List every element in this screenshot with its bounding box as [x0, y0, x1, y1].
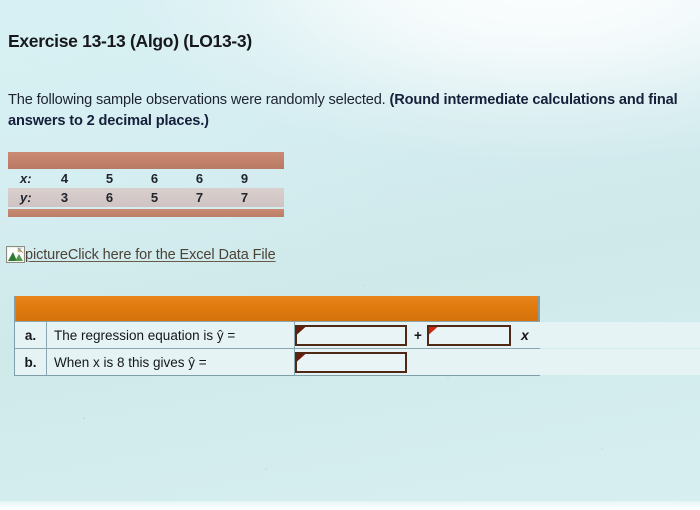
answer-table-header-bar [15, 296, 539, 321]
data-table-row-y: y: 3 6 5 7 7 [8, 188, 284, 207]
data-cell-x-1: 4 [42, 171, 87, 186]
data-cell-x-5: 9 [222, 171, 267, 186]
slope-input-box[interactable] [427, 325, 511, 346]
table-row: b. When x is 8 this gives ŷ = [15, 348, 539, 375]
excel-data-file-row[interactable]: pictureClick here for the Excel Data Fil… [6, 246, 276, 263]
data-row-label-x: x: [8, 171, 42, 186]
answer-operator-plus: + [409, 322, 427, 348]
data-table-bottom-rule [8, 209, 284, 217]
intercept-input-box[interactable] [295, 325, 407, 346]
excel-link-text: Click here for the Excel Data File [68, 247, 276, 263]
predicted-y-input[interactable] [297, 354, 405, 371]
data-row-label-y: y: [8, 190, 42, 205]
answer-input-cell-a2 [427, 322, 513, 348]
prompt-paragraph: The following sample observations were r… [8, 90, 680, 132]
data-cell-y-1: 3 [42, 190, 87, 205]
broken-image-icon [6, 246, 25, 263]
data-cell-y-5: 7 [222, 190, 267, 205]
answer-input-cell-a1 [295, 322, 409, 348]
data-cell-x-2: 5 [87, 171, 132, 186]
data-table-top-rule [8, 152, 284, 169]
sample-data-table: x: 4 5 6 6 9 y: 3 6 5 7 7 [8, 152, 284, 217]
answer-row-b-blank-cell [427, 349, 513, 375]
answer-row-b-trailing-cell [513, 349, 700, 375]
data-cell-y-3: 5 [132, 190, 177, 205]
data-cell-x-4: 6 [177, 171, 222, 186]
excel-data-file-link[interactable]: pictureClick here for the Excel Data Fil… [25, 247, 276, 263]
answer-table: a. The regression equation is ŷ = + x b.… [14, 296, 540, 376]
answer-row-label-a: The regression equation is ŷ = [47, 322, 295, 348]
data-cell-x-3: 6 [132, 171, 177, 186]
answer-row-letter-a: a. [15, 322, 47, 348]
predicted-y-input-box[interactable] [295, 352, 407, 373]
answer-input-cell-b1 [295, 349, 409, 375]
data-cell-y-4: 7 [177, 190, 222, 205]
answer-variable-x-label: x [513, 322, 700, 348]
prompt-normal-text: The following sample observations were r… [8, 92, 389, 108]
answer-row-label-b: When x is 8 this gives ŷ = [47, 349, 295, 375]
intercept-input[interactable] [297, 327, 405, 344]
answer-row-b-spacer [409, 349, 427, 375]
data-cell-y-2: 6 [87, 190, 132, 205]
data-table-row-x: x: 4 5 6 6 9 [8, 169, 284, 188]
worksheet-content: Exercise 13-13 (Algo) (LO13-3) The follo… [0, 0, 700, 510]
slope-input[interactable] [429, 327, 509, 344]
excel-link-alt-label: picture [25, 247, 68, 263]
answer-row-letter-b: b. [15, 349, 47, 375]
table-row: a. The regression equation is ŷ = + x [15, 321, 539, 348]
page-title: Exercise 13-13 (Algo) (LO13-3) [8, 31, 252, 52]
